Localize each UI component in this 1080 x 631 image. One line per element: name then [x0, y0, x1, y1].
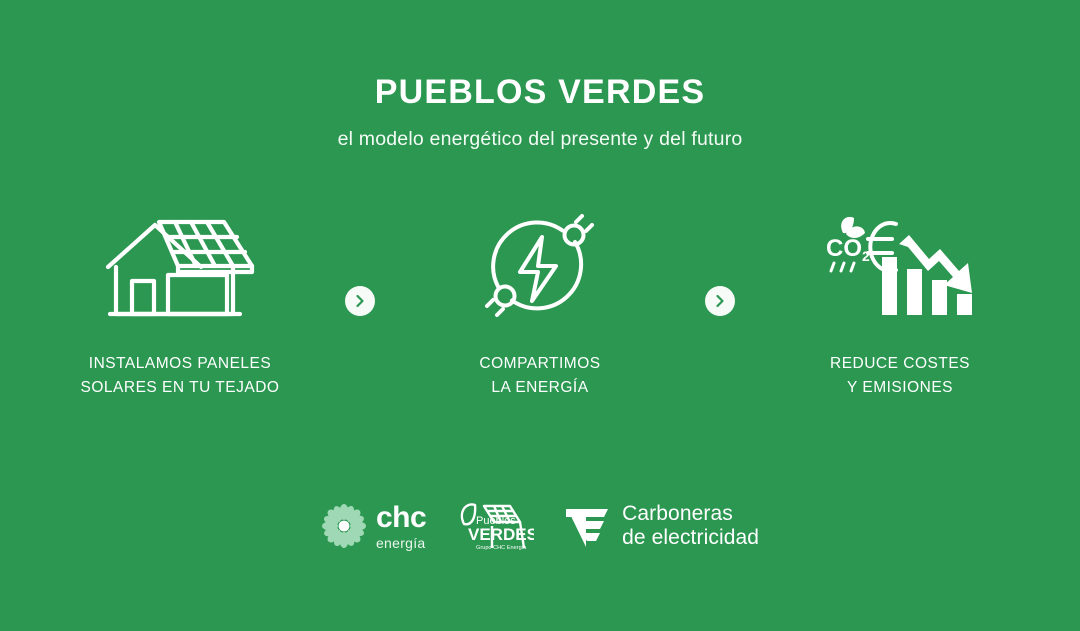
step-2-label: COMPARTIMOS LA ENERGÍA [479, 352, 600, 400]
co2-label: CO2 [826, 235, 870, 264]
step-reduce-costs: CO2 [750, 206, 1050, 400]
page-subtitle: el modelo energético del presente y del … [0, 128, 1080, 151]
step-3-icon-box: CO2 [820, 206, 980, 324]
carboneras-de-electricidad-logo: Carboneras de electricidad [562, 501, 759, 551]
connector-2 [690, 206, 750, 316]
chc-secondary-text: energía [376, 536, 426, 550]
chevron-glyph [713, 294, 727, 308]
page-title: PUEBLOS VERDES [0, 74, 1080, 111]
carboneras-wordmark: Carboneras de electricidad [622, 502, 759, 549]
chevron-right-icon [345, 286, 375, 316]
verdes-text: VERDES [468, 525, 534, 544]
chevron-right-icon [705, 286, 735, 316]
step-install-panels: INSTALAMOS PANELES SOLARES EN TU TEJADO [30, 206, 330, 400]
house-solar-panels-icon [100, 209, 260, 321]
daisy-flower-icon [321, 503, 367, 549]
chc-energia-logo: chc energía [321, 503, 426, 550]
header: PUEBLOS VERDES el modelo energético del … [0, 74, 1080, 151]
striped-triangle-icon [562, 501, 612, 551]
logo-row: chc energía Pueblos VERDES Grupo [0, 498, 1080, 554]
infographic-slide: PUEBLOS VERDES el modelo energético del … [0, 0, 1080, 631]
chevron-glyph [353, 294, 367, 308]
step-share-energy: COMPARTIMOS LA ENERGÍA [390, 206, 690, 400]
pueblos-verdes-tagline: Grupo CHC Energía [476, 545, 527, 551]
steps-row: INSTALAMOS PANELES SOLARES EN TU TEJADO [0, 206, 1080, 400]
emission-droplets-icon [831, 263, 854, 271]
carboneras-line-2: de electricidad [622, 526, 759, 550]
step-1-label: INSTALAMOS PANELES SOLARES EN TU TEJADO [81, 352, 280, 400]
pueblos-verdes-mark: Pueblos VERDES Grupo CHC Energía [454, 498, 534, 554]
connector-1 [330, 206, 390, 316]
chc-primary-text: chc [376, 503, 426, 533]
chc-energia-wordmark: chc energía [376, 503, 426, 550]
co2-euro-decreasing-chart-icon: CO2 [820, 209, 980, 321]
step-1-icon-box [100, 206, 260, 324]
step-2-icon-box [476, 206, 604, 324]
energy-sharing-bolt-plugs-icon [476, 209, 604, 321]
step-3-label: REDUCE COSTES Y EMISIONES [830, 352, 970, 400]
pueblos-verdes-logo: Pueblos VERDES Grupo CHC Energía [454, 498, 534, 554]
carboneras-line-1: Carboneras [622, 502, 759, 526]
